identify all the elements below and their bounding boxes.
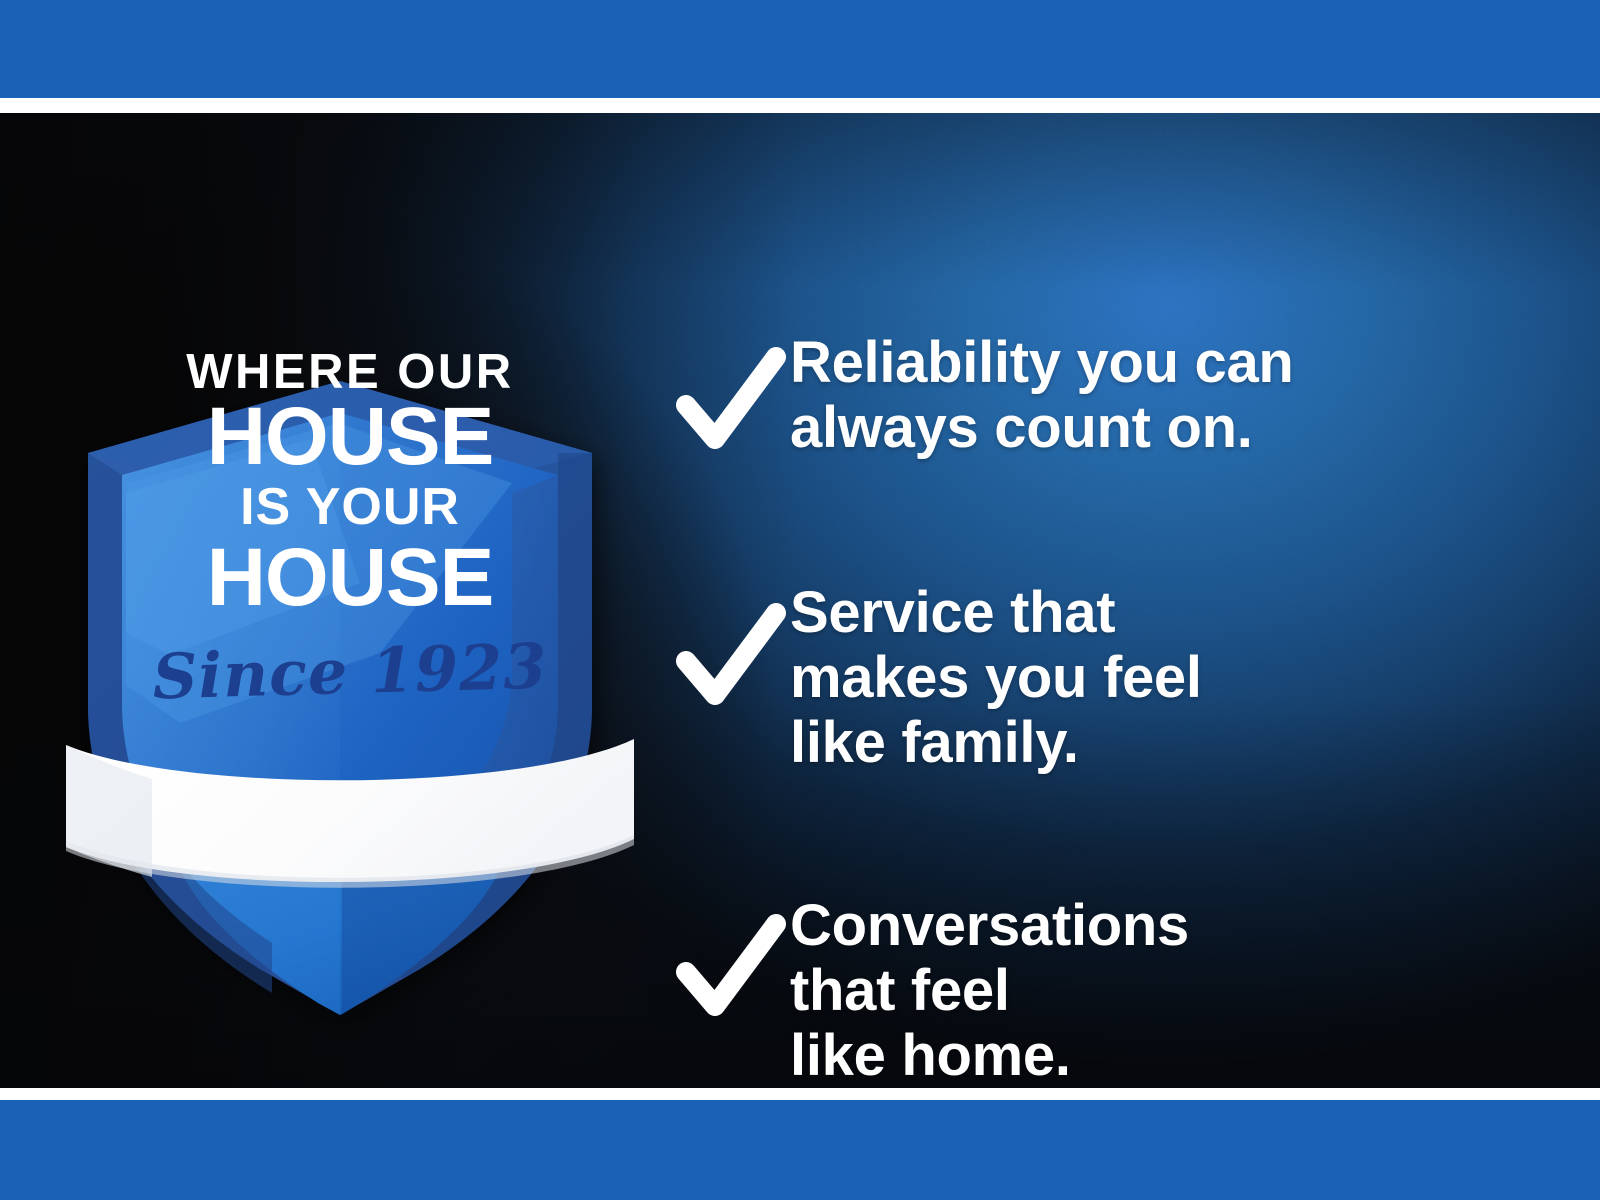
list-item-label: Conversations that feel like home. [790, 894, 1189, 1088]
benefits-list: Reliability you can always count on. Ser… [660, 226, 1560, 1088]
shield-graphic [60, 253, 640, 1043]
promotional-banner: Where Our House Is Your House Since 1923… [0, 0, 1600, 1200]
list-item: Service that makes you feel like family. [670, 581, 1202, 776]
list-item-label: Reliability you can always count on. [790, 331, 1294, 461]
bottom-brand-bar [0, 1100, 1600, 1200]
top-white-divider [0, 98, 1600, 113]
check-icon [670, 581, 790, 723]
list-item: Conversations that feel like home. [670, 894, 1189, 1088]
check-icon [670, 331, 790, 467]
main-content-area: Where Our House Is Your House Since 1923… [0, 113, 1600, 1088]
list-item: Reliability you can always count on. [670, 331, 1294, 467]
bottom-white-divider [0, 1088, 1600, 1100]
list-item-label: Service that makes you feel like family. [790, 581, 1202, 776]
shield-logo: Where Our House Is Your House Since 1923 [60, 253, 640, 1043]
top-brand-bar [0, 0, 1600, 98]
check-icon [670, 894, 790, 1034]
